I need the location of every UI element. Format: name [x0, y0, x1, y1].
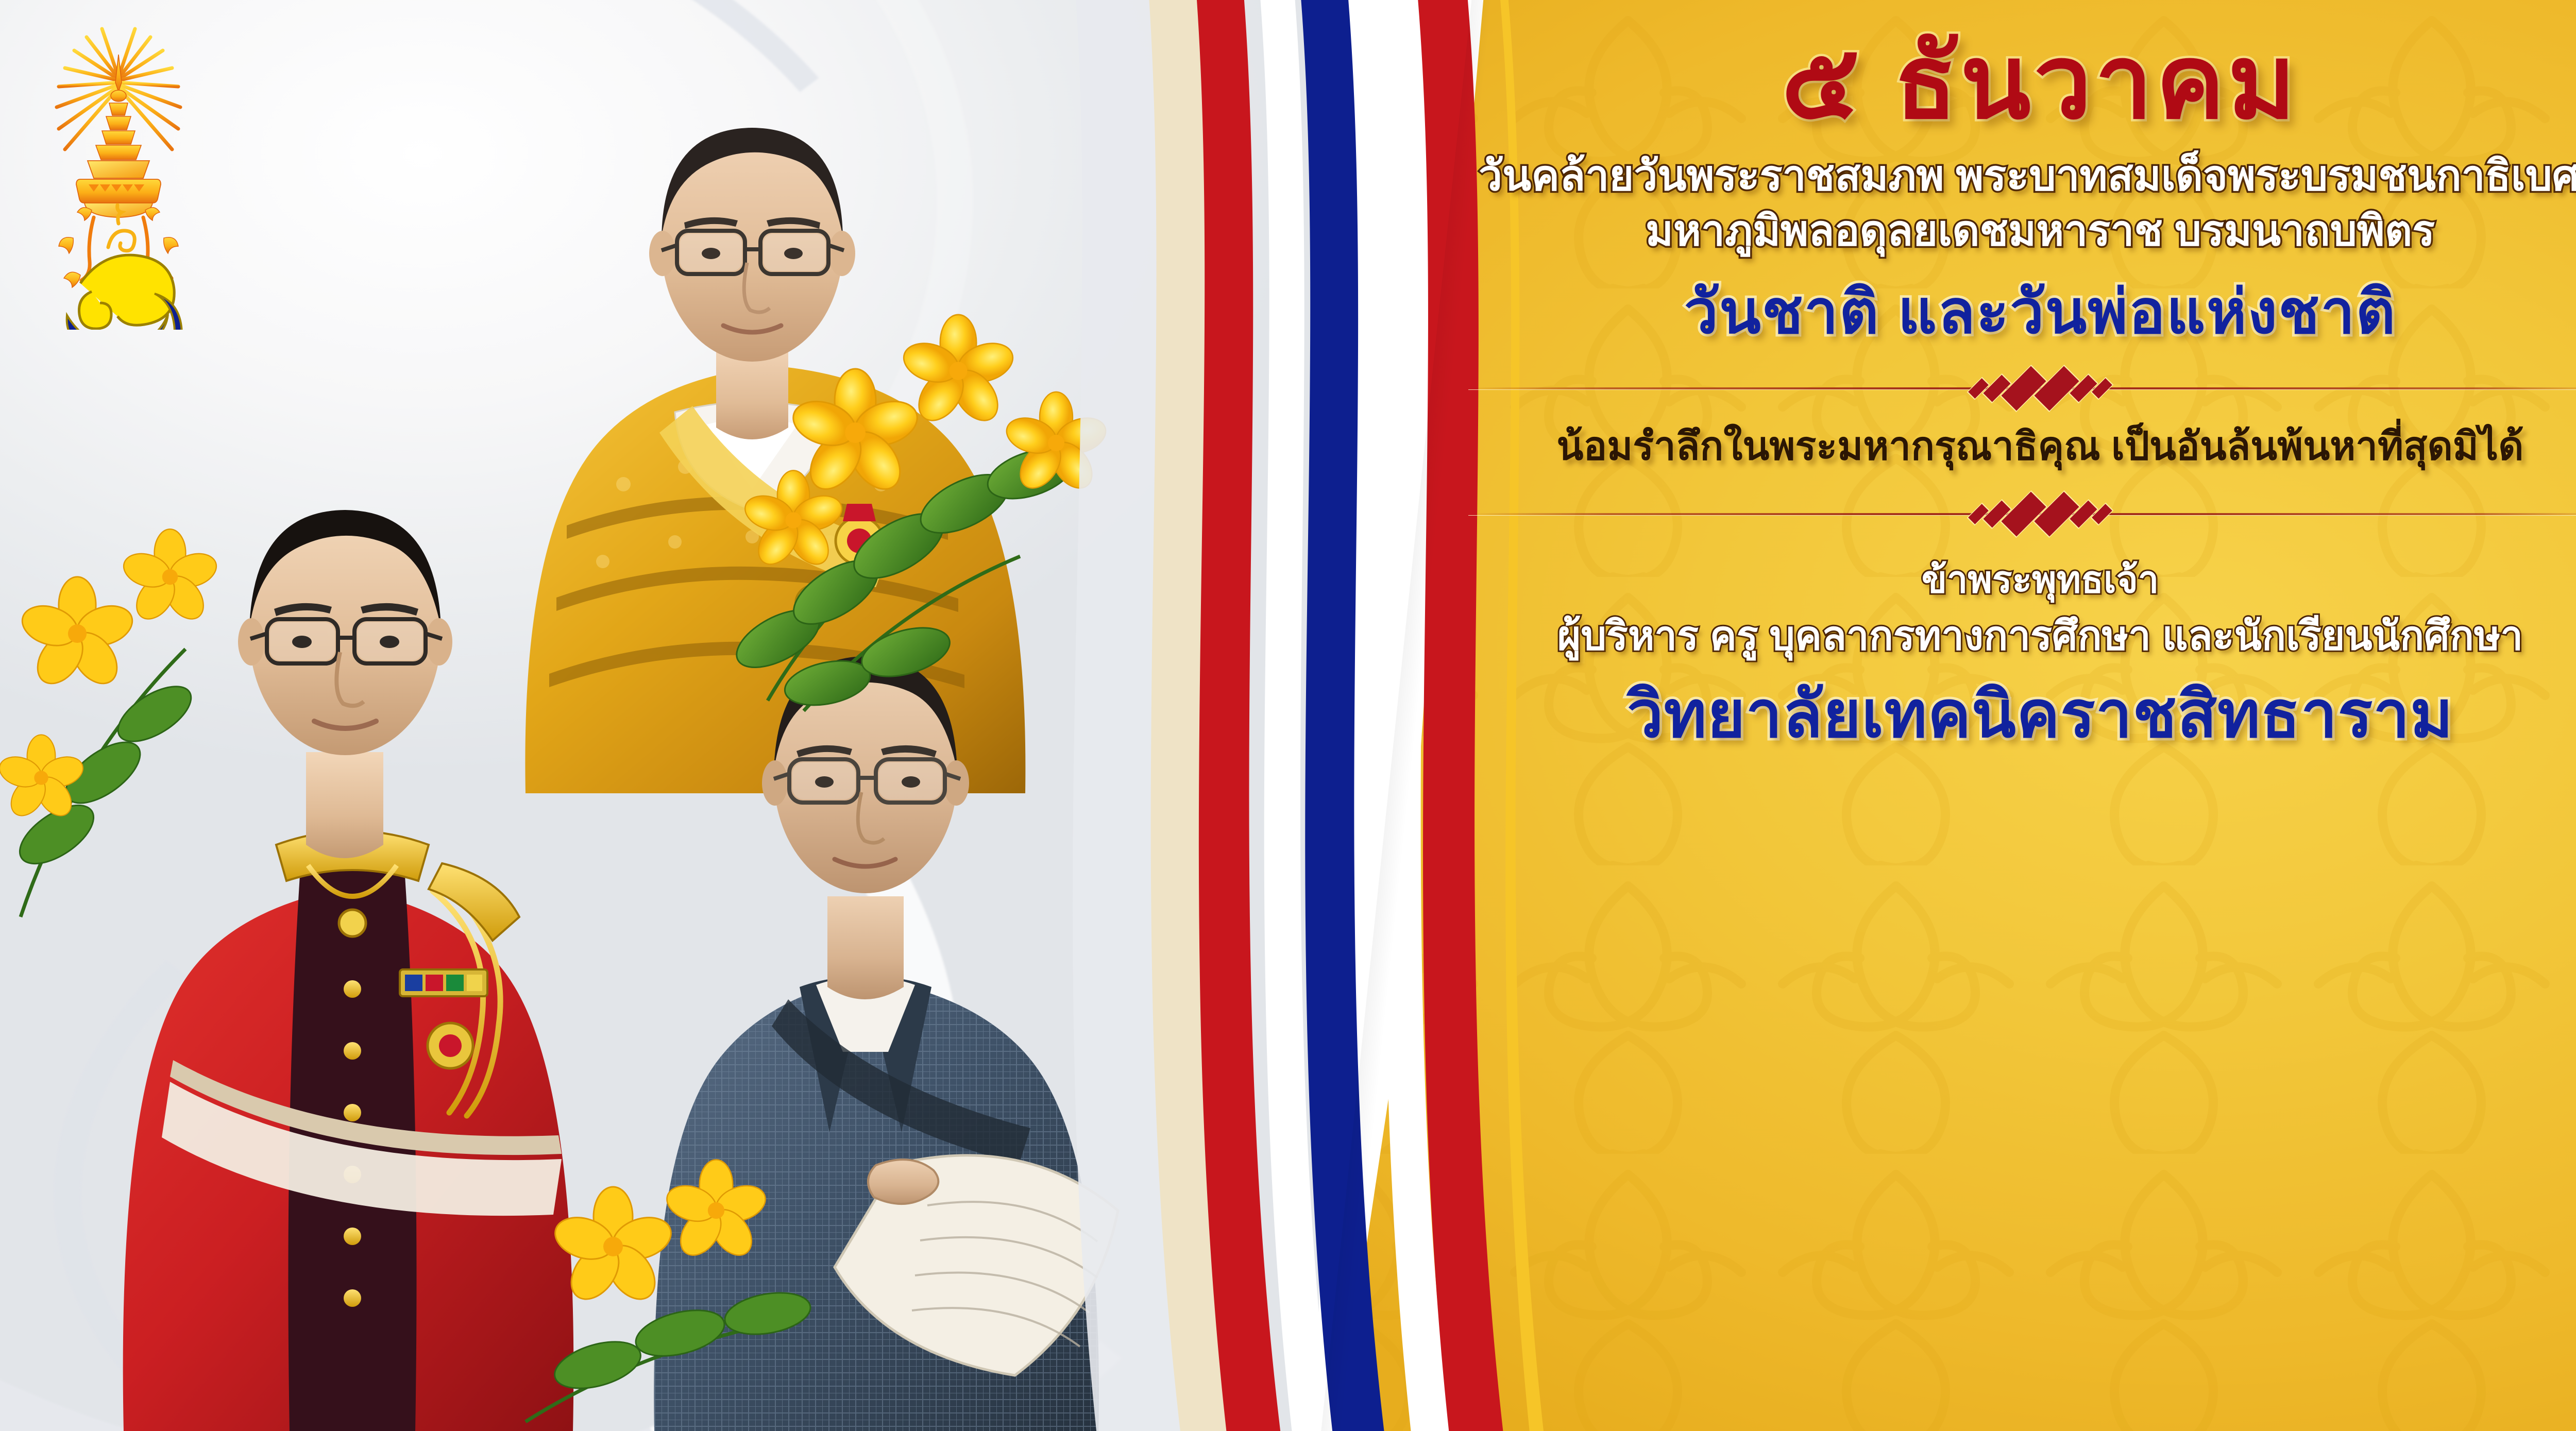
fleuron-diamond-large	[2001, 366, 2046, 411]
ornament-divider-bottom	[1468, 499, 2576, 530]
headline-date: ๕ ธันวาคม	[1782, 27, 2299, 138]
ornament-divider-top	[1468, 373, 2576, 404]
royal-cypher-emblem	[31, 5, 206, 330]
signatory-group: ผู้บริหาร ครู บุคลากรทางการศึกษา และนักเ…	[1557, 610, 2523, 662]
occasion-title: วันชาติ และวันพ่อแห่งชาติ	[1684, 276, 2396, 349]
subtitle-line-1: วันคล้ายวันพระราชสมภพ พระบาทสมเด็จพระบรม…	[1479, 149, 2576, 203]
tribute-text: น้อมรำลึกในพระมหากรุณาธิคุณ เป็นอันล้นพ้…	[1557, 421, 2524, 472]
diamond-fleuron-icon	[1972, 495, 2109, 533]
royal-commemorative-banner: ๕ ธันวาคม วันคล้ายวันพระราชสมภพ พระบาทสม…	[0, 0, 2576, 1431]
signatory-intro: ข้าพระพุทธเจ้า	[1922, 556, 2159, 605]
fleuron-diamond-large	[2034, 492, 2079, 537]
subtitle-line-2: มหาภูมิพลอดุลยเดชมหาราช บรมนาถบพิตร	[1646, 205, 2435, 259]
fleuron-diamond-large	[2034, 366, 2079, 411]
institution-name: วิทยาลัยเทคนิคราชสิทธาราม	[1627, 675, 2453, 753]
message-block: ๕ ธันวาคม วันคล้ายวันพระราชสมภพ พระบาทสม…	[1247, 0, 2576, 1431]
fleuron-diamond-large	[2001, 492, 2046, 537]
cassia-flower-cluster-left	[0, 464, 319, 927]
diamond-fleuron-icon	[1972, 369, 2109, 407]
